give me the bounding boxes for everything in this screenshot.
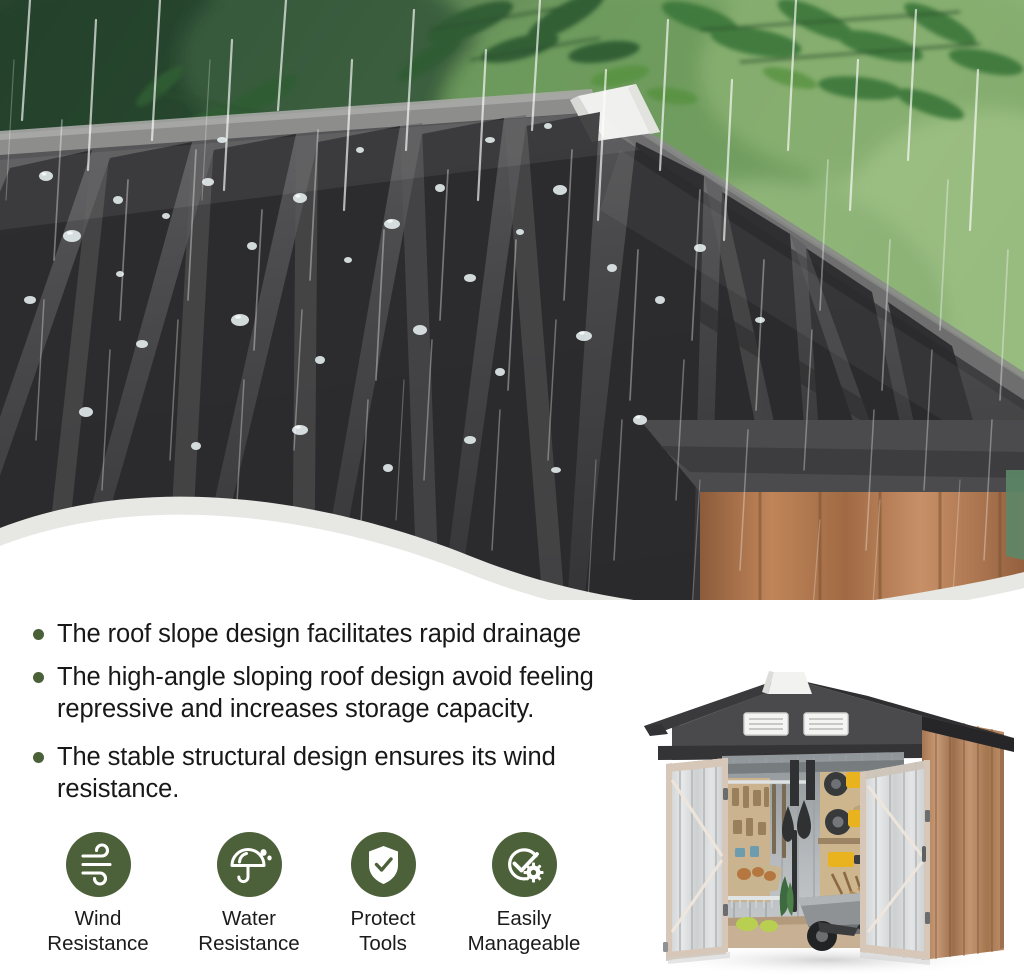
product-shed-image (622, 660, 1024, 978)
shield-check-icon (351, 832, 416, 897)
product-feature-page: The roof slope design facilitates rapid … (0, 0, 1024, 978)
hero-rain-roof-image (0, 0, 1024, 620)
feature-water-resistance: Water Resistance (183, 832, 315, 956)
list-item: The high-angle sloping roof design avoid… (0, 661, 650, 725)
feature-wind-resistance: Wind Resistance (32, 832, 164, 956)
feature-protect-tools: Protect Tools (317, 832, 449, 956)
bullet-text: The stable structural design ensures its… (57, 743, 556, 803)
bullet-text: The high-angle sloping roof design avoid… (57, 663, 594, 723)
bullet-dot-icon (33, 629, 44, 640)
list-item: The roof slope design facilitates rapid … (0, 618, 650, 650)
feature-label: Wind Resistance (32, 906, 164, 956)
wind-icon (66, 832, 131, 897)
metal-shed-illustration (622, 660, 1024, 978)
feature-easily-manageable: Easily Manageable (458, 832, 590, 956)
umbrella-rain-icon (217, 832, 282, 897)
list-item: The stable structural design ensures its… (0, 741, 650, 805)
bullet-text: The roof slope design facilitates rapid … (57, 620, 581, 648)
bullet-dot-icon (33, 752, 44, 763)
check-gear-icon (492, 832, 557, 897)
feature-icon-strip: Wind Resistance (0, 832, 610, 978)
rain-roof-illustration (0, 0, 1024, 620)
feature-label: Protect Tools (317, 906, 449, 956)
feature-label: Water Resistance (183, 906, 315, 956)
feature-bullet-list: The roof slope design facilitates rapid … (0, 618, 650, 816)
feature-label: Easily Manageable (458, 906, 590, 956)
bullet-dot-icon (33, 672, 44, 683)
